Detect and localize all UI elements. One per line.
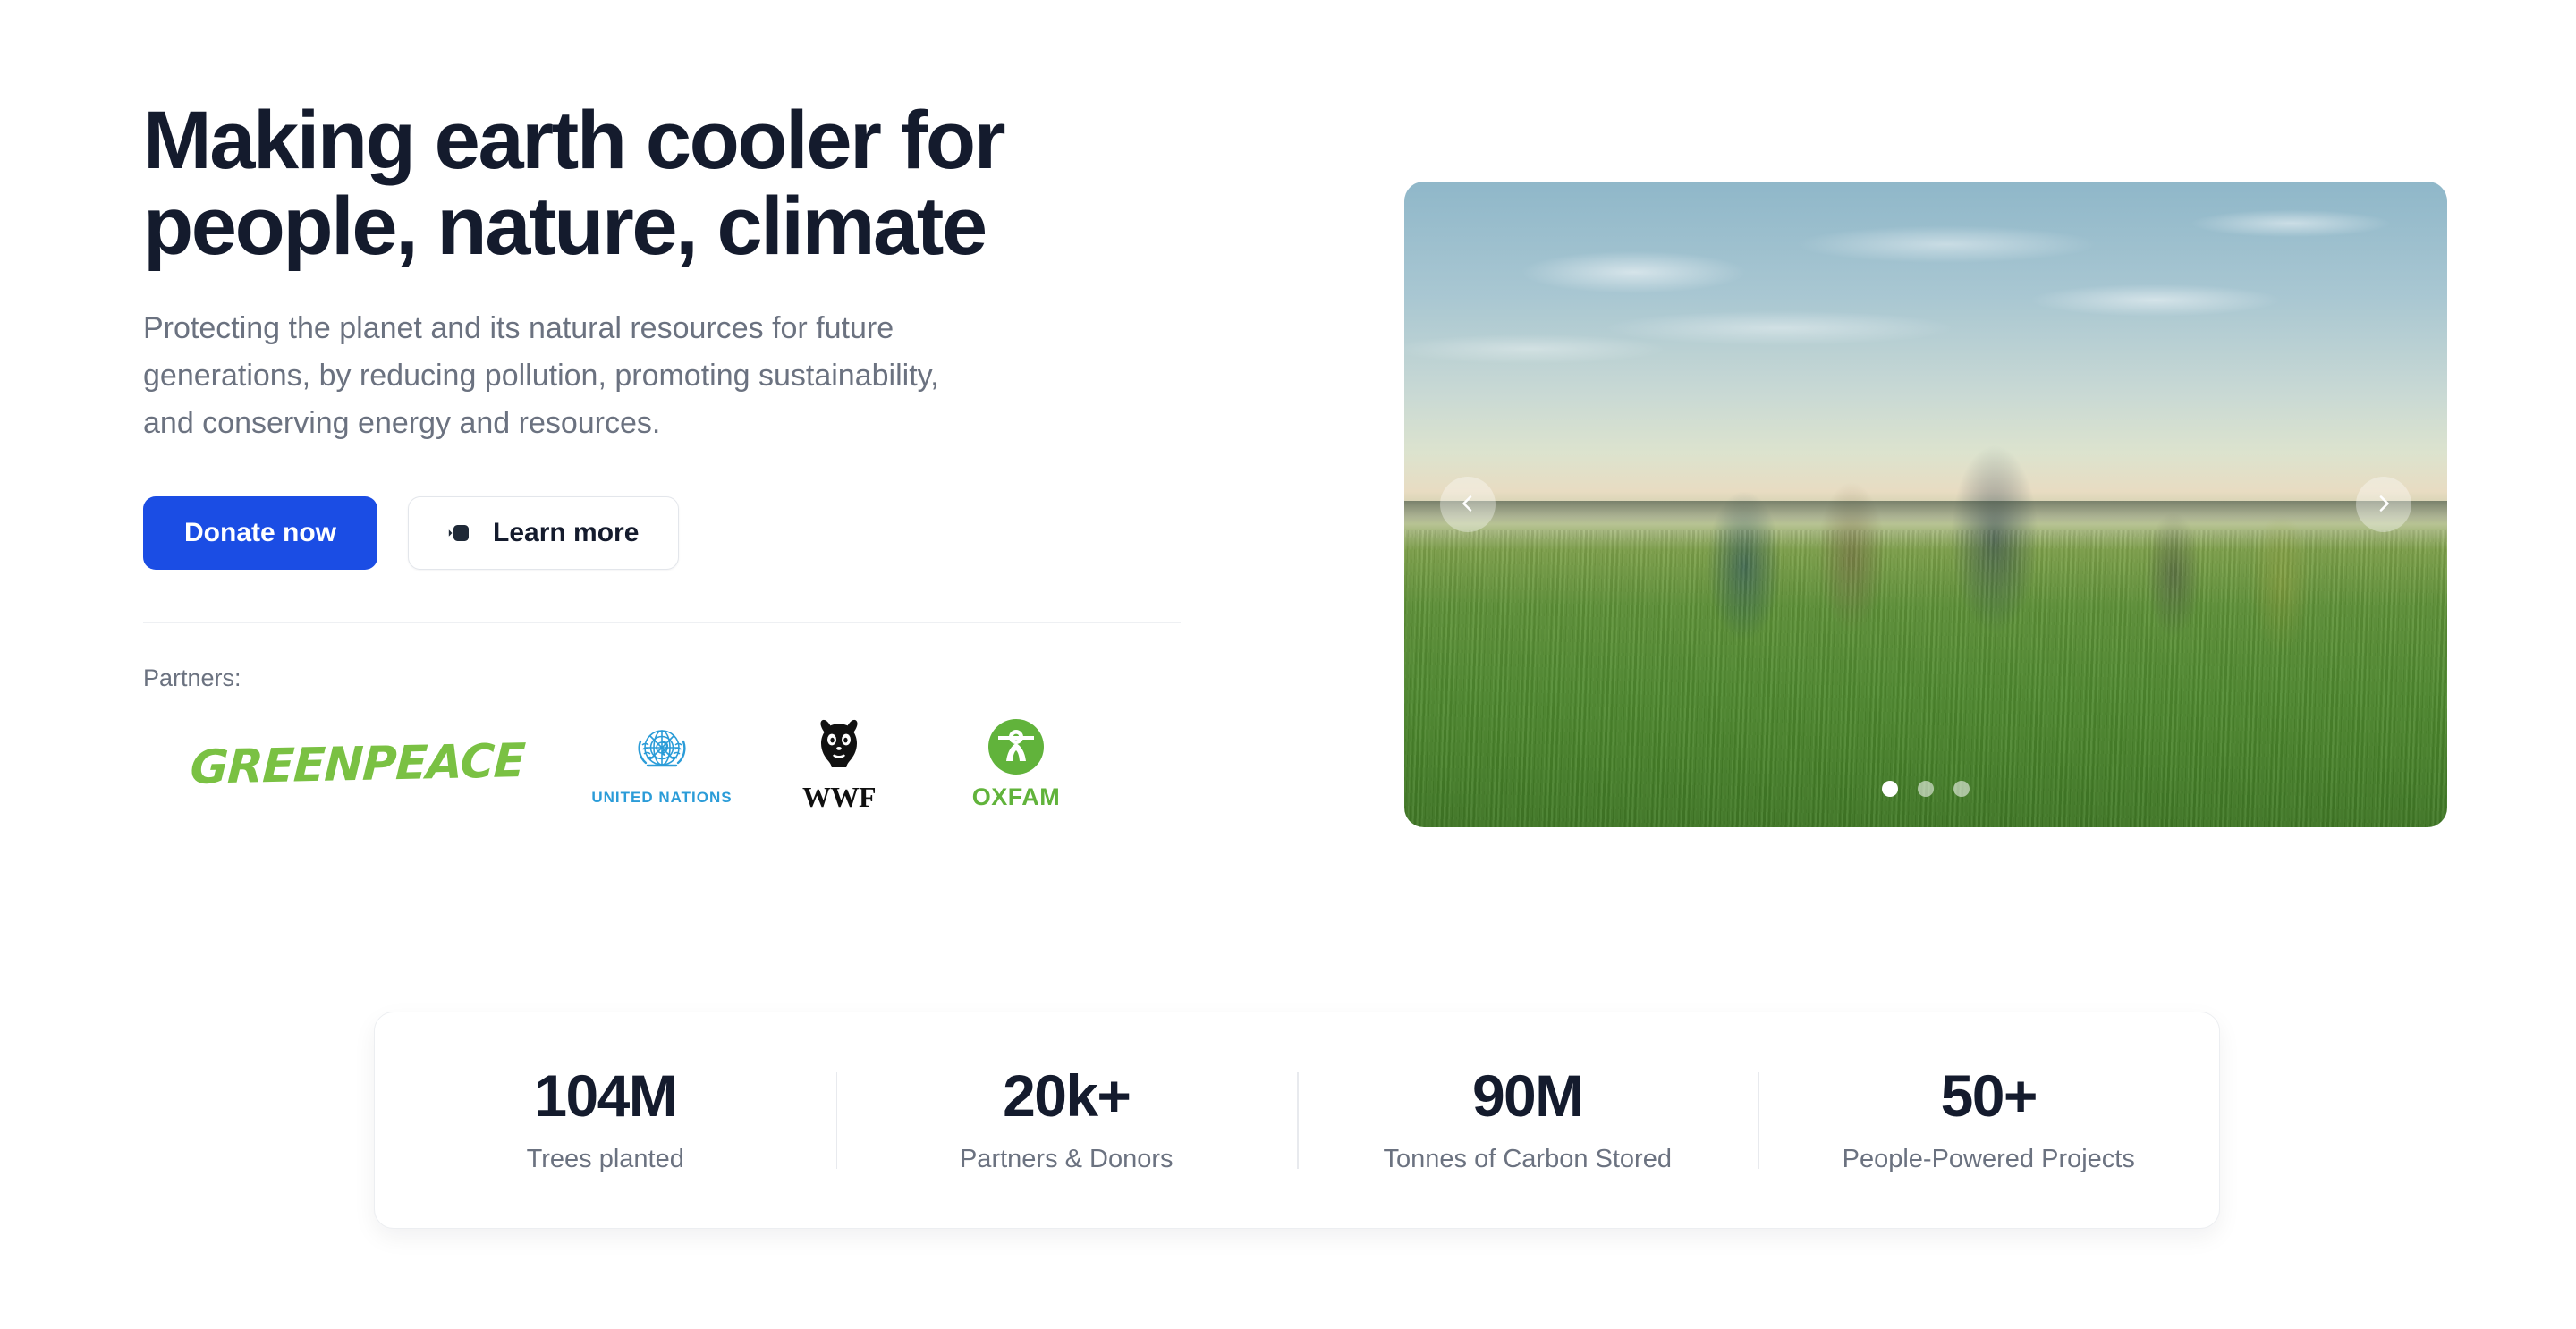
- oxfam-emblem-icon: [987, 718, 1045, 780]
- horizon-treeline: [1404, 501, 2447, 524]
- stat-value: 104M: [534, 1066, 676, 1125]
- carousel-dot-1[interactable]: [1882, 781, 1898, 797]
- section-divider: [143, 622, 1181, 623]
- greenpeace-wordmark: GREENPEACE: [190, 735, 527, 796]
- oxfam-wordmark: OXFAM: [972, 783, 1061, 811]
- partner-logo-oxfam[interactable]: OXFAM: [927, 718, 1106, 811]
- learn-more-label: Learn more: [493, 518, 639, 548]
- carousel-slide-image: [1404, 182, 2447, 827]
- carousel-dots: [1882, 781, 1970, 797]
- hero-left-column: Making earth cooler for people, nature, …: [143, 98, 1199, 814]
- stat-label: Tonnes of Carbon Stored: [1384, 1145, 1672, 1174]
- partner-logo-united-nations[interactable]: UNITED NATIONS: [572, 724, 751, 807]
- carousel-prev-button[interactable]: [1440, 477, 1496, 532]
- chevron-right-icon: [2374, 494, 2394, 516]
- stat-value: 90M: [1472, 1066, 1583, 1125]
- partner-logo-greenpeace[interactable]: GREENPEACE: [143, 738, 572, 791]
- page-title: Making earth cooler for people, nature, …: [143, 98, 1199, 269]
- carousel-next-button[interactable]: [2356, 477, 2411, 532]
- hero-actions: Donate now Learn more: [143, 496, 1199, 570]
- united-nations-emblem-icon: [626, 724, 698, 783]
- hero-page: Making earth cooler for people, nature, …: [0, 0, 2576, 1329]
- carousel-dot-2[interactable]: [1918, 781, 1934, 797]
- sky-clouds: [1404, 182, 2447, 530]
- stat-item: 90M Tonnes of Carbon Stored: [1297, 1066, 1758, 1174]
- partners-logo-row: GREENPEACE: [143, 715, 1199, 814]
- stats-card: 104M Trees planted 20k+ Partners & Donor…: [374, 1012, 2220, 1229]
- stat-item: 104M Trees planted: [375, 1066, 836, 1174]
- stat-value: 50+: [1941, 1066, 2037, 1125]
- carousel-dot-3[interactable]: [1953, 781, 1970, 797]
- wwf-panda-icon: [805, 715, 873, 779]
- united-nations-wordmark: UNITED NATIONS: [591, 789, 732, 807]
- stat-item: 20k+ Partners & Donors: [836, 1066, 1298, 1174]
- learn-more-button[interactable]: Learn more: [408, 496, 679, 570]
- hero-subtitle: Protecting the planet and its natural re…: [143, 305, 1172, 446]
- stat-value: 20k+: [1003, 1066, 1130, 1125]
- stat-label: Partners & Donors: [960, 1145, 1174, 1174]
- hero-carousel[interactable]: [1404, 182, 2447, 827]
- partners-label: Partners:: [143, 664, 1199, 692]
- stat-label: People-Powered Projects: [1843, 1145, 2135, 1174]
- stat-item: 50+ People-Powered Projects: [1758, 1066, 2220, 1174]
- wwf-wordmark: WWF: [802, 781, 876, 814]
- chevron-left-icon: [1458, 494, 1478, 516]
- stat-label: Trees planted: [527, 1145, 684, 1174]
- video-camera-icon: [448, 523, 475, 543]
- partner-logo-wwf[interactable]: WWF: [751, 715, 927, 814]
- donate-now-button[interactable]: Donate now: [143, 496, 377, 570]
